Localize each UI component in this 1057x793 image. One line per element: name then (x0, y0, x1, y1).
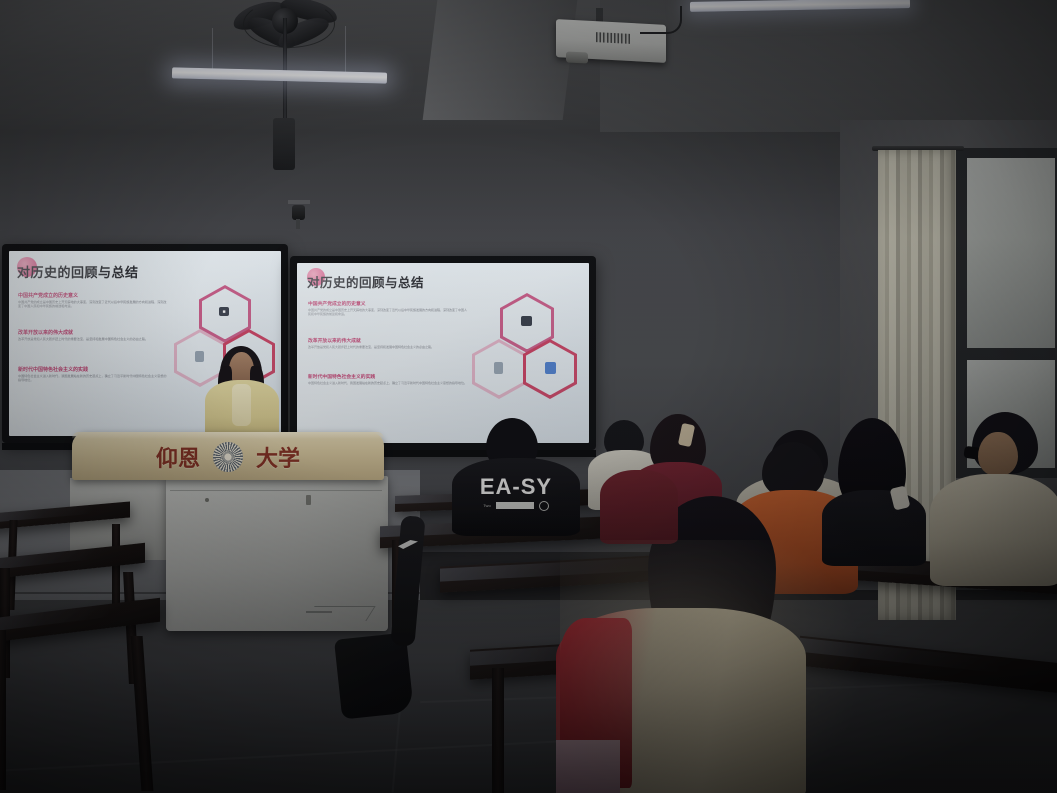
person-badge-icon (545, 362, 556, 374)
podium-vent-line (306, 611, 332, 613)
section-body-2: 改革开放是党和人民大踏步赶上时代的重要法宝，是坚持和发展中国特色社会主义的必由之… (308, 345, 468, 349)
chat-bubble-icon (521, 316, 532, 326)
desk-leg (0, 630, 6, 790)
podium-university-name: 仰恩 大学 (88, 440, 368, 474)
section-body-1: 中国共产党的成立是中国历史上开天辟地的大事变，深刻改变了近代以后中华民族发展的方… (308, 308, 468, 317)
notebook (556, 740, 620, 793)
right-display-surface: 对历史的回顾与总结 中国共产党成立的历史意义 中国共产党的成立是中国历史上开天辟… (297, 263, 589, 443)
ceiling-beam (423, 0, 578, 120)
chat-bubble-icon: ■ (219, 307, 229, 316)
section-body-2: 改革开放是党和人民大踏步赶上时代的重要法宝，是坚持和发展中国特色社会主义的必由之… (18, 337, 168, 341)
shirt-text: EA-SY (480, 476, 552, 498)
hexagon-group (472, 293, 572, 405)
section-heading-2: 改革开放以来的伟大成就 (308, 337, 361, 344)
university-name-right: 大学 (256, 441, 300, 473)
document-icon (494, 362, 503, 374)
section-body-3: 中国特色社会主义进入新时代，我国发展站在新的历史起点上，确立了习近平新时代中国特… (18, 374, 168, 383)
slide-title: 对历史的回顾与总结 (17, 262, 139, 281)
shirt-graphic: EA-SY Two (452, 470, 580, 516)
section-heading-1: 中国共产党成立的历史意义 (18, 292, 78, 299)
section-body-3: 中国特色社会主义进入新时代，我国发展站在新的历史起点上，确立了习近平新时代中国特… (308, 381, 468, 385)
podium-latch (306, 495, 311, 505)
podium-cabinet-seam (170, 490, 382, 491)
section-heading-3: 新时代中国特色社会主义的实践 (308, 373, 375, 380)
slide-right: 对历史的回顾与总结 中国共产党成立的历史意义 中国共产党的成立是中国历史上开天辟… (297, 263, 589, 443)
section-body-1: 中国共产党的成立是中国历史上开天辟地的大事变，深刻改变了近代以后中华民族发展的方… (18, 300, 168, 309)
desk-leg (112, 524, 120, 610)
section-heading-1: 中国共产党成立的历史意义 (308, 300, 366, 307)
desk-leg (492, 668, 504, 793)
sunburst-emblem-icon (213, 442, 243, 472)
light-wire (345, 26, 346, 78)
slide-title: 对历史的回顾与总结 (307, 272, 424, 291)
podium-vent (305, 606, 375, 621)
section-heading-3: 新时代中国特色社会主义的实践 (18, 366, 88, 373)
section-heading-2: 改革开放以来的伟大成就 (18, 329, 73, 336)
podium-knob (205, 498, 209, 502)
classroom-photo: 对历史的回顾与总结 中国共产党成立的历史意义 中国共产党的成立是中国历史上开天辟… (0, 0, 1057, 793)
university-name-left: 仰恩 (156, 441, 200, 473)
light-wire (212, 28, 213, 74)
wall-speaker (273, 118, 295, 170)
document-icon (195, 351, 204, 362)
right-display[interactable]: 对历史的回顾与总结 中国共产党成立的历史意义 中国共产党的成立是中国历史上开天辟… (290, 256, 596, 450)
